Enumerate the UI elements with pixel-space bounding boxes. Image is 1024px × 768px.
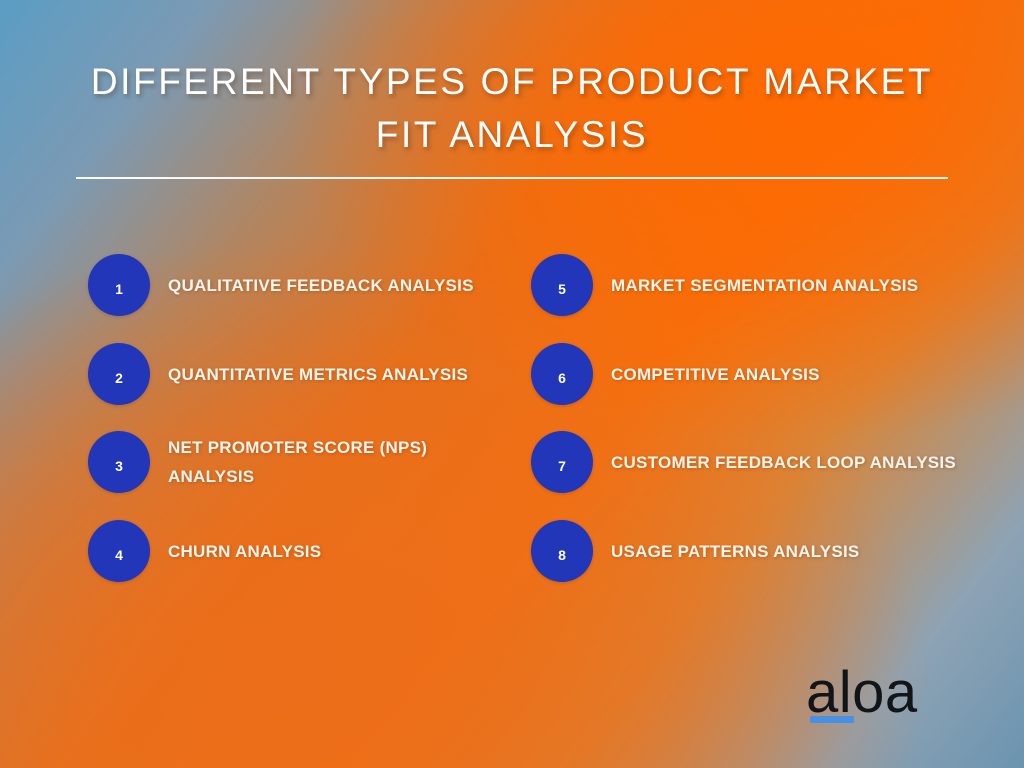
item-number: 6: [558, 370, 566, 386]
item-label: CUSTOMER FEEDBACK LOOP ANALYSIS: [611, 448, 956, 477]
item-label: COMPETITIVE ANALYSIS: [611, 360, 820, 389]
item-label: MARKET SEGMENTATION ANALYSIS: [611, 271, 918, 300]
item-number-badge: 2: [88, 343, 150, 405]
item-number-badge: 1: [88, 254, 150, 316]
list-item: 4 CHURN ANALYSIS: [88, 520, 518, 582]
item-label: USAGE PATTERNS ANALYSIS: [611, 537, 860, 566]
list-item: 6 COMPETITIVE ANALYSIS: [531, 343, 961, 405]
item-number-badge: 3: [88, 431, 150, 493]
aloa-logo: aloa: [806, 662, 946, 732]
item-number-badge: 8: [531, 520, 593, 582]
title-block: DIFFERENT TYPES OF PRODUCT MARKET FIT AN…: [76, 55, 948, 161]
item-number: 8: [558, 547, 566, 563]
list-item: 3 NET PROMOTER SCORE (NPS) ANALYSIS: [88, 431, 518, 493]
item-number-badge: 7: [531, 431, 593, 493]
list-item: 5 MARKET SEGMENTATION ANALYSIS: [531, 254, 961, 316]
title-divider: [76, 177, 948, 179]
page-title: DIFFERENT TYPES OF PRODUCT MARKET FIT AN…: [76, 55, 948, 161]
item-number: 1: [115, 281, 123, 297]
item-number: 3: [115, 458, 123, 474]
logo-wordmark: aloa: [806, 662, 946, 724]
item-number: 4: [115, 547, 123, 563]
item-number-badge: 6: [531, 343, 593, 405]
slide-canvas: DIFFERENT TYPES OF PRODUCT MARKET FIT AN…: [0, 0, 1024, 768]
list-item: 2 QUANTITATIVE METRICS ANALYSIS: [88, 343, 518, 405]
item-number-badge: 4: [88, 520, 150, 582]
item-label: QUANTITATIVE METRICS ANALYSIS: [168, 360, 468, 389]
analysis-type-list: 1 QUALITATIVE FEEDBACK ANALYSIS 2 QUANTI…: [0, 246, 1024, 606]
list-item: 1 QUALITATIVE FEEDBACK ANALYSIS: [88, 254, 518, 316]
item-number-badge: 5: [531, 254, 593, 316]
item-label: CHURN ANALYSIS: [168, 537, 321, 566]
item-number: 5: [558, 281, 566, 297]
item-label: QUALITATIVE FEEDBACK ANALYSIS: [168, 271, 474, 300]
list-item: 7 CUSTOMER FEEDBACK LOOP ANALYSIS: [531, 431, 961, 493]
item-label: NET PROMOTER SCORE (NPS) ANALYSIS: [168, 433, 513, 491]
item-number: 2: [115, 370, 123, 386]
list-item: 8 USAGE PATTERNS ANALYSIS: [531, 520, 961, 582]
logo-underline-accent: [810, 716, 854, 723]
item-number: 7: [558, 458, 566, 474]
